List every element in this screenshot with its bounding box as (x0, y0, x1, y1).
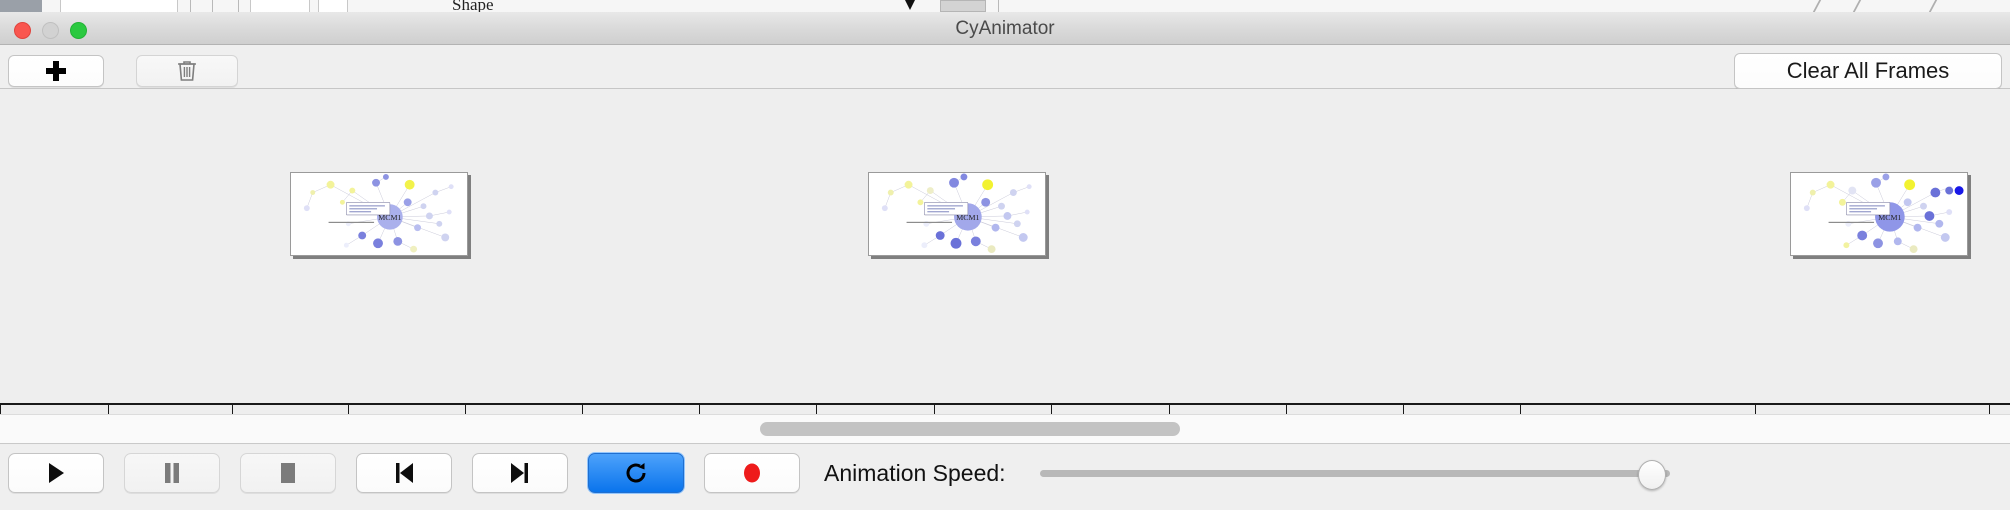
pause-icon (163, 462, 181, 484)
background-app-label: Shape (452, 0, 494, 12)
play-icon (46, 462, 66, 484)
timeline-scrollbar[interactable] (0, 414, 2010, 444)
axis-tick-minor (1051, 405, 1052, 414)
network-graph-thumbnail: MCM1 (1791, 173, 1967, 255)
svg-text:MCM1: MCM1 (956, 213, 979, 222)
add-frame-button[interactable] (8, 55, 104, 87)
background-tab (0, 0, 42, 12)
axis-tick-minor (1520, 405, 1521, 414)
frame-toolbar: Clear All Frames (0, 45, 2010, 89)
network-graph-thumbnail: MCM1 (291, 173, 467, 255)
record-icon (741, 461, 763, 485)
record-button[interactable] (704, 453, 800, 493)
cyanimator-window: Shape CyAnimator Clear All Frames (0, 0, 2010, 510)
animation-speed-slider[interactable] (1040, 470, 1670, 477)
delete-frame-button[interactable] (136, 55, 238, 87)
axis-tick-minor (582, 405, 583, 414)
axis-tick-major (465, 405, 466, 414)
svg-text:MCM1: MCM1 (1878, 213, 1901, 222)
transport-bar: Animation Speed: (0, 445, 2010, 510)
axis-tick-minor (108, 405, 109, 414)
title-bar[interactable]: CyAnimator (0, 12, 2010, 45)
skip-forward-icon (509, 462, 531, 484)
background-pill (940, 0, 986, 12)
loop-icon (624, 461, 648, 485)
axis-tick-minor (816, 405, 817, 414)
timeline-panel[interactable]: MCM1 (0, 89, 2010, 414)
stop-icon (278, 462, 298, 484)
window-title: CyAnimator (0, 12, 2010, 45)
axis-tick-major (699, 405, 700, 414)
animation-speed-label: Animation Speed: (824, 453, 1006, 493)
network-graph-thumbnail: MCM1 (869, 173, 1045, 255)
keyframe-thumbnail[interactable]: MCM1 (868, 172, 1046, 256)
keyframe-thumbnail[interactable]: MCM1 (290, 172, 468, 256)
axis-tick-minor (1989, 405, 1990, 414)
clear-all-frames-button[interactable]: Clear All Frames (1734, 53, 2002, 89)
background-caret-icon (905, 0, 915, 10)
plus-icon (46, 61, 66, 81)
timeline-axis-line (0, 403, 2010, 405)
loop-button[interactable] (588, 453, 684, 493)
axis-tick-major (934, 405, 935, 414)
trash-icon (176, 59, 198, 83)
background-window-strip: Shape (0, 0, 2010, 12)
pause-button[interactable] (124, 453, 220, 493)
scrollbar-thumb[interactable] (760, 422, 1180, 436)
axis-tick-major (1403, 405, 1404, 414)
svg-text:MCM1: MCM1 (378, 213, 401, 222)
next-frame-button[interactable] (472, 453, 568, 493)
prev-frame-button[interactable] (356, 453, 452, 493)
axis-tick-minor (1286, 405, 1287, 414)
stop-button[interactable] (240, 453, 336, 493)
slider-thumb[interactable] (1638, 460, 1666, 490)
axis-tick-major (0, 405, 1, 414)
play-button[interactable] (8, 453, 104, 493)
keyframe-thumbnail[interactable]: MCM1 (1790, 172, 1968, 256)
skip-back-icon (393, 462, 415, 484)
axis-tick-minor (348, 405, 349, 414)
axis-tick-major (1169, 405, 1170, 414)
axis-tick-major (232, 405, 233, 414)
axis-tick-minor (1755, 405, 1756, 414)
